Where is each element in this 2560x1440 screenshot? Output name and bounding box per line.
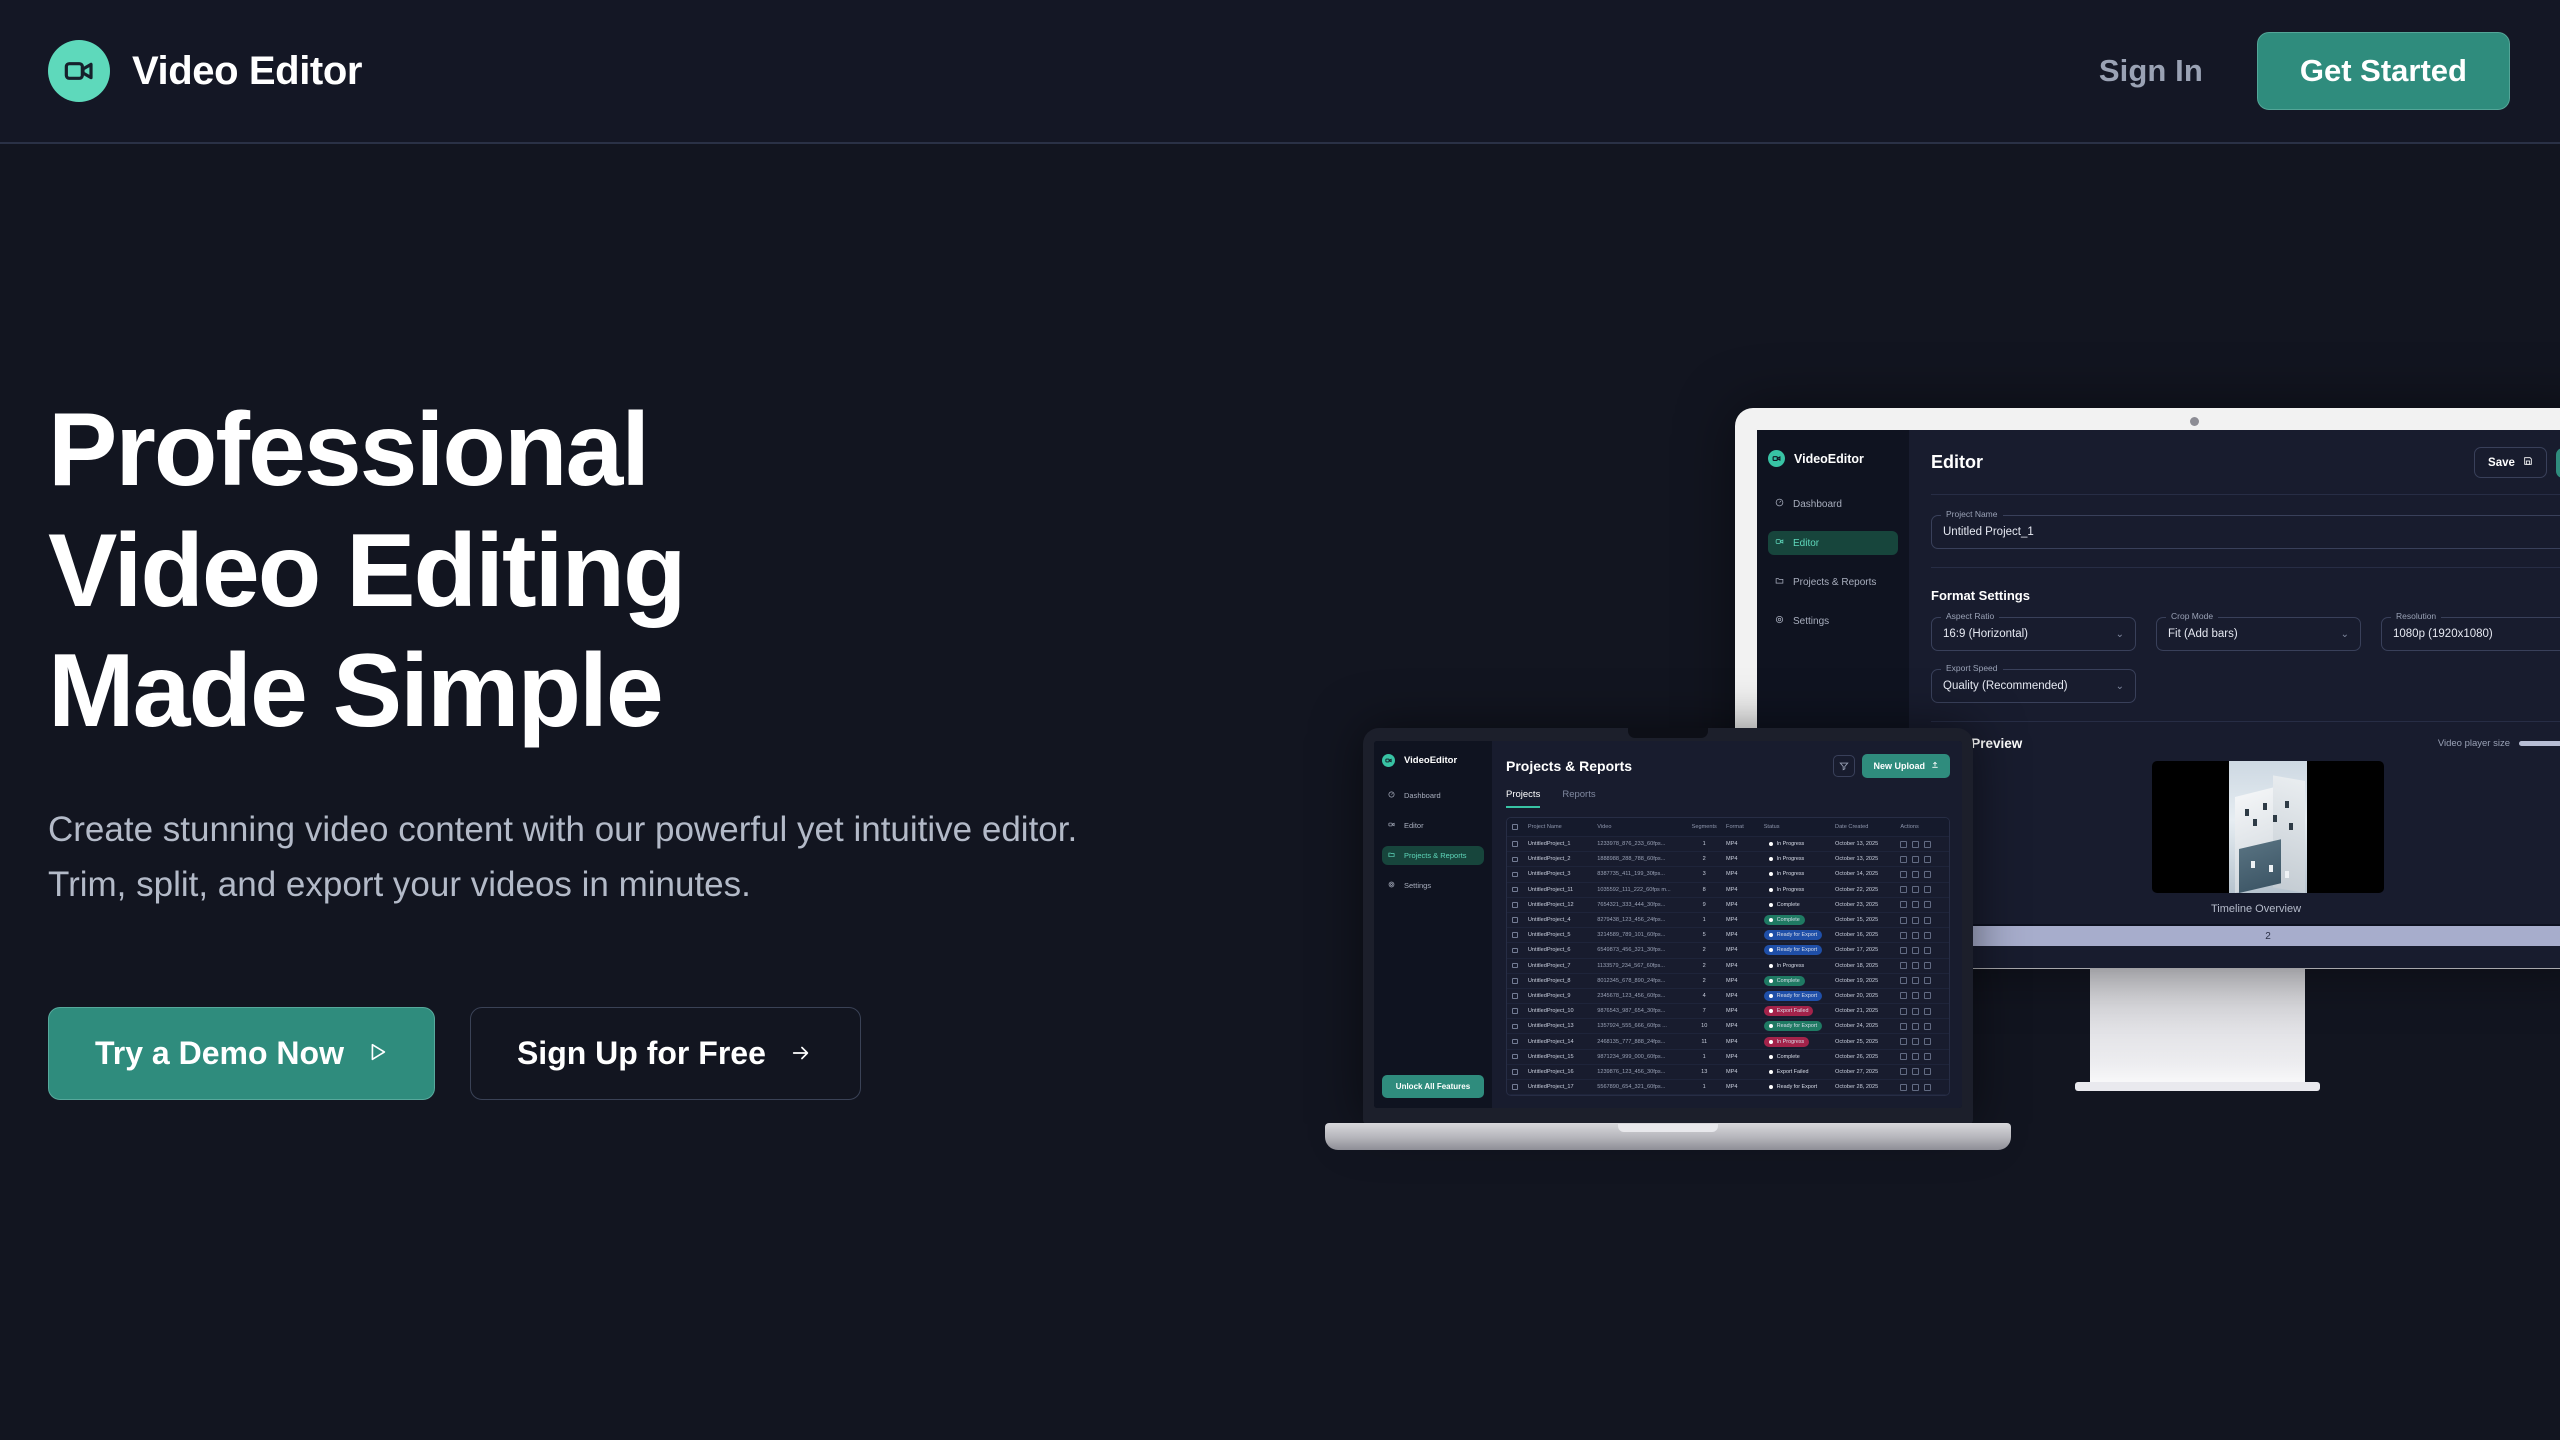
status-badge: In Progress [1764, 869, 1835, 879]
trash-icon[interactable] [1924, 901, 1931, 908]
cell-video: 9871234_999_000_60fps... [1597, 1054, 1682, 1060]
table-row[interactable]: UntitledProject_71133579_234_567_60fps..… [1507, 959, 1949, 974]
window-detail [2285, 801, 2289, 808]
status-badge: In Progress [1764, 1037, 1835, 1047]
status-badge: Ready for Export [1764, 1021, 1835, 1031]
monitor-camera-dot [2190, 417, 2199, 426]
landing-page: Video Editor Sign In Get Started Profess… [0, 0, 2560, 1440]
row-checkbox[interactable] [1512, 932, 1528, 938]
download-icon[interactable] [1912, 962, 1919, 969]
divider [1931, 721, 2560, 722]
laptop-lid: VideoEditor Dashboard Editor [1363, 728, 1973, 1124]
gauge-icon [1388, 791, 1395, 800]
cell-project-name: UntitledProject_6 [1528, 947, 1597, 953]
cell-segments: 2 [1682, 856, 1726, 862]
cell-project-name: UntitledProject_12 [1528, 902, 1597, 908]
row-checkbox[interactable] [1512, 887, 1528, 893]
row-actions [1900, 947, 1944, 954]
row-checkbox[interactable] [1512, 1024, 1528, 1030]
sign-up-label: Sign Up for Free [517, 1035, 766, 1072]
hero-content: Professional Video Editing Made Simple C… [48, 390, 1108, 1100]
cell-video: 8387735_411_199_30fps... [1597, 871, 1682, 877]
table-row[interactable]: UntitledProject_131357924_555_666_60fps … [1507, 1019, 1949, 1034]
cell-video: 8279438_123_456_24fps... [1597, 917, 1682, 923]
trash-icon[interactable] [1924, 886, 1931, 893]
trash-icon[interactable] [1924, 1084, 1931, 1091]
cell-date-created: October 28, 2025 [1835, 1084, 1900, 1090]
cell-segments: 11 [1682, 1039, 1726, 1045]
col-video[interactable]: Video [1597, 824, 1682, 830]
cell-date-created: October 26, 2025 [1835, 1054, 1900, 1060]
video-icon [1775, 537, 1784, 549]
table-row[interactable]: UntitledProject_175567890_654_321_60fps.… [1507, 1080, 1949, 1095]
row-actions [1900, 1084, 1944, 1091]
upload-icon [1931, 761, 1939, 771]
slider-track[interactable] [2519, 741, 2560, 746]
cell-format: MP4 [1726, 932, 1764, 938]
cell-date-created: October 14, 2025 [1835, 871, 1900, 877]
laptop-base-notch [1618, 1124, 1718, 1132]
sidebar-label: Settings [1404, 881, 1431, 890]
gear-icon [1388, 881, 1395, 890]
laptop-notch [1628, 728, 1708, 738]
cell-date-created: October 24, 2025 [1835, 1023, 1900, 1029]
cell-date-created: October 25, 2025 [1835, 1039, 1900, 1045]
video-player-size-slider[interactable]: Video player size [2438, 738, 2560, 749]
projects-page-title: Projects & Reports [1506, 758, 1632, 774]
download-icon[interactable] [1912, 1068, 1919, 1075]
trash-icon[interactable] [1924, 1023, 1931, 1030]
projects-actions: New Upload [1833, 754, 1950, 778]
edit-icon[interactable] [1900, 977, 1907, 984]
project-name-field[interactable]: Project Name Untitled Project_1 [1931, 515, 2560, 549]
cell-video: 2468135_777_888_24fps... [1597, 1039, 1682, 1045]
header-actions: Sign In Get Started [2099, 32, 2510, 110]
cell-video: 6549873_456_321_30fps... [1597, 947, 1682, 953]
cell-project-name: UntitledProject_16 [1528, 1069, 1597, 1075]
sidebar-label: Dashboard [1793, 499, 1842, 510]
download-icon[interactable] [1912, 1008, 1919, 1015]
row-actions [1900, 1038, 1944, 1045]
table-row[interactable]: UntitledProject_53214589_789_101_60fps..… [1507, 928, 1949, 943]
format-fields-row-2: Export Speed Quality (Recommended) ⌄ [1931, 669, 2560, 703]
funnel-icon[interactable] [1833, 755, 1855, 777]
cell-date-created: October 20, 2025 [1835, 993, 1900, 999]
sidebar-label: Projects & Reports [1404, 851, 1467, 860]
cell-segments: 8 [1682, 887, 1726, 893]
sidebar-label: Editor [1793, 538, 1819, 549]
cell-date-created: October 17, 2025 [1835, 947, 1900, 953]
cell-segments: 1 [1682, 1084, 1726, 1090]
sidebar-label: Projects & Reports [1793, 577, 1876, 588]
col-format[interactable]: Format [1726, 824, 1764, 830]
projects-table: Project Name Video Segments Format Statu… [1506, 817, 1950, 1096]
cell-format: MP4 [1726, 902, 1764, 908]
try-demo-label: Try a Demo Now [95, 1035, 344, 1072]
table-row[interactable]: UntitledProject_48279438_123_456_24fps..… [1507, 913, 1949, 928]
cell-format: MP4 [1726, 978, 1764, 984]
row-checkbox[interactable] [1512, 917, 1528, 923]
projects-sidebar: VideoEditor Dashboard Editor [1374, 741, 1492, 1108]
download-icon[interactable] [1912, 1053, 1919, 1060]
edit-icon[interactable] [1900, 947, 1907, 954]
download-icon[interactable] [1912, 932, 1919, 939]
edit-icon[interactable] [1900, 917, 1907, 924]
divider [1931, 567, 2560, 568]
row-checkbox[interactable] [1512, 1008, 1528, 1014]
download-icon[interactable] [1912, 992, 1919, 999]
trash-icon[interactable] [1924, 841, 1931, 848]
edit-icon[interactable] [1900, 901, 1907, 908]
projects-main: Projects & Reports New Upload [1492, 741, 1962, 1108]
status-badge: Export Failed [1764, 1067, 1835, 1077]
brand-name: Video Editor [132, 49, 362, 94]
site-header: Video Editor Sign In Get Started [0, 0, 2560, 144]
edit-icon[interactable] [1900, 992, 1907, 999]
window-detail [2251, 861, 2255, 868]
trash-icon[interactable] [1924, 1038, 1931, 1045]
projects-app-screen: VideoEditor Dashboard Editor [1374, 741, 1962, 1108]
cell-project-name: UntitledProject_13 [1528, 1023, 1597, 1029]
cell-segments: 3 [1682, 871, 1726, 877]
window-detail [2269, 865, 2273, 872]
cell-project-name: UntitledProject_9 [1528, 993, 1597, 999]
timeline-bar[interactable]: 2 [1931, 924, 2560, 946]
cell-format: MP4 [1726, 993, 1764, 999]
trash-icon[interactable] [1924, 992, 1931, 999]
field-label: Resolution [2391, 611, 2441, 621]
project-name-value: Untitled Project_1 [1943, 526, 2034, 538]
aspect-ratio-select[interactable]: Aspect Ratio 16:9 (Horizontal) ⌄ [1931, 617, 2136, 651]
row-checkbox[interactable] [1512, 993, 1528, 999]
download-icon[interactable] [1912, 977, 1919, 984]
download-icon[interactable] [1912, 871, 1919, 878]
download-icon[interactable] [1912, 1084, 1919, 1091]
edit-icon[interactable] [1900, 1038, 1907, 1045]
table-row[interactable]: UntitledProject_142468135_777_888_24fps.… [1507, 1034, 1949, 1049]
slider-label: Video player size [2438, 738, 2510, 749]
col-status[interactable]: Status [1764, 824, 1835, 830]
cell-format: MP4 [1726, 1069, 1764, 1075]
row-actions [1900, 886, 1944, 893]
row-actions [1900, 932, 1944, 939]
cell-project-name: UntitledProject_2 [1528, 856, 1597, 862]
sidebar-item-editor[interactable]: Editor [1768, 531, 1898, 555]
edit-icon[interactable] [1900, 932, 1907, 939]
sidebar-item-projects-reports[interactable]: Projects & Reports [1382, 846, 1484, 865]
row-checkbox[interactable] [1512, 872, 1528, 878]
cell-project-name: UntitledProject_3 [1528, 871, 1597, 877]
cell-format: MP4 [1726, 947, 1764, 953]
table-row[interactable]: UntitledProject_38387735_411_199_30fps..… [1507, 867, 1949, 882]
monitor-foot [2075, 1082, 2320, 1091]
col-segments[interactable]: Segments [1682, 824, 1726, 830]
trash-icon[interactable] [1924, 932, 1931, 939]
projects-tabs: Projects Reports [1506, 789, 1950, 808]
gauge-icon [1775, 498, 1784, 510]
status-badge: Export Failed [1764, 1006, 1835, 1016]
col-actions: Actions [1900, 824, 1944, 830]
cell-video: 2345678_123_456_60fps... [1597, 993, 1682, 999]
cell-video: 1888988_288_788_60fps... [1597, 856, 1682, 862]
row-actions [1900, 871, 1944, 878]
app-logo: VideoEditor [1768, 450, 1898, 467]
cell-segments: 10 [1682, 1023, 1726, 1029]
row-actions [1900, 962, 1944, 969]
video-preview-header: Video Preview Video player size [1931, 736, 2560, 751]
format-settings-title: Format Settings [1931, 588, 2560, 603]
trash-icon[interactable] [1924, 1053, 1931, 1060]
row-actions [1900, 901, 1944, 908]
table-row[interactable]: UntitledProject_161239876_123_456_30fps.… [1507, 1065, 1949, 1080]
edit-icon[interactable] [1900, 1084, 1907, 1091]
trash-icon[interactable] [1924, 856, 1931, 863]
cell-project-name: UntitledProject_1 [1528, 841, 1597, 847]
row-checkbox[interactable] [1512, 857, 1528, 863]
sidebar-item-dashboard[interactable]: Dashboard [1768, 492, 1898, 516]
status-badge: Ready for Export [1764, 1082, 1835, 1092]
cell-format: MP4 [1726, 856, 1764, 862]
cell-video: 9876543_987_654_30fps... [1597, 1008, 1682, 1014]
trash-icon[interactable] [1924, 947, 1931, 954]
export-speed-select[interactable]: Export Speed Quality (Recommended) ⌄ [1931, 669, 2136, 703]
cell-format: MP4 [1726, 871, 1764, 877]
download-icon[interactable] [1912, 947, 1919, 954]
chevron-down-icon: ⌄ [2116, 681, 2124, 692]
cell-project-name: UntitledProject_11 [1528, 887, 1597, 893]
editor-nav-list: Dashboard Editor Projects & Reports Sett… [1768, 492, 1898, 633]
cell-segments: 2 [1682, 963, 1726, 969]
window-detail [2289, 823, 2293, 830]
window-detail [2253, 819, 2257, 826]
cell-segments: 1 [1682, 841, 1726, 847]
table-row[interactable]: UntitledProject_109876543_987_654_30fps.… [1507, 1004, 1949, 1019]
trash-icon[interactable] [1924, 977, 1931, 984]
row-checkbox[interactable] [1512, 948, 1528, 954]
table-row[interactable]: UntitledProject_88012345_678_890_24fps..… [1507, 974, 1949, 989]
trash-icon[interactable] [1924, 1008, 1931, 1015]
unlock-all-features-button[interactable]: Unlock All Features [1382, 1075, 1484, 1098]
download-icon[interactable] [1912, 841, 1919, 848]
download-icon[interactable] [1912, 917, 1919, 924]
status-badge: Complete [1764, 915, 1835, 925]
row-checkbox[interactable] [1512, 978, 1528, 984]
col-date-created[interactable]: Date Created [1835, 824, 1900, 830]
sidebar-item-settings[interactable]: Settings [1768, 609, 1898, 633]
cell-project-name: UntitledProject_4 [1528, 917, 1597, 923]
editor-topbar: Editor Save Exp [1931, 447, 2560, 478]
gear-icon [1775, 615, 1784, 627]
select-all-checkbox[interactable] [1512, 824, 1528, 830]
table-row[interactable]: UntitledProject_111035592_111_222_60fps … [1507, 883, 1949, 898]
row-checkbox[interactable] [1512, 1084, 1528, 1090]
timeline-overview-label: Timeline Overview [1931, 903, 2560, 915]
cell-format: MP4 [1726, 1084, 1764, 1090]
row-actions [1900, 1008, 1944, 1015]
trash-icon[interactable] [1924, 962, 1931, 969]
divider [1931, 494, 2560, 495]
row-actions [1900, 1023, 1944, 1030]
crop-mode-select[interactable]: Crop Mode Fit (Add bars) ⌄ [2156, 617, 2361, 651]
edit-icon[interactable] [1900, 1023, 1907, 1030]
cell-format: MP4 [1726, 1008, 1764, 1014]
laptop-mockup: VideoEditor Dashboard Editor [1363, 728, 1973, 1124]
cell-format: MP4 [1726, 963, 1764, 969]
row-checkbox[interactable] [1512, 902, 1528, 908]
row-checkbox[interactable] [1512, 1054, 1528, 1060]
folder-icon [1388, 851, 1395, 860]
sidebar-label: Settings [1793, 616, 1829, 627]
chevron-down-icon: ⌄ [2341, 629, 2349, 640]
window-detail [2273, 815, 2277, 822]
edit-icon[interactable] [1900, 1053, 1907, 1060]
sign-in-button[interactable]: Sign In [2099, 53, 2203, 89]
sidebar-label: Editor [1404, 821, 1424, 830]
cell-segments: 9 [1682, 902, 1726, 908]
status-badge: Complete [1764, 900, 1835, 910]
sign-up-button[interactable]: Sign Up for Free [470, 1007, 861, 1100]
row-actions [1900, 1068, 1944, 1075]
video-icon [1388, 821, 1395, 830]
download-icon[interactable] [1912, 901, 1919, 908]
download-icon[interactable] [1912, 856, 1919, 863]
trash-icon[interactable] [1924, 871, 1931, 878]
row-actions [1900, 917, 1944, 924]
chevron-down-icon: ⌄ [2116, 629, 2124, 640]
download-icon[interactable] [1912, 1038, 1919, 1045]
status-badge: Complete [1764, 1052, 1835, 1062]
field-value: 16:9 (Horizontal) [1943, 628, 2028, 640]
monitor-stand [2090, 968, 2305, 1088]
export-button[interactable]: Exp [2556, 448, 2560, 478]
row-checkbox[interactable] [1512, 1069, 1528, 1075]
row-actions [1900, 856, 1944, 863]
table-row[interactable]: UntitledProject_21888988_288_788_60fps..… [1507, 852, 1949, 867]
tab-projects[interactable]: Projects [1506, 789, 1540, 808]
cell-date-created: October 18, 2025 [1835, 963, 1900, 969]
table-row[interactable]: UntitledProject_92345678_123_456_60fps..… [1507, 989, 1949, 1004]
edit-icon[interactable] [1900, 886, 1907, 893]
cell-date-created: October 16, 2025 [1835, 932, 1900, 938]
cell-project-name: UntitledProject_15 [1528, 1054, 1597, 1060]
status-badge: In Progress [1764, 885, 1835, 895]
cell-segments: 1 [1682, 917, 1726, 923]
row-actions [1900, 992, 1944, 999]
cell-video: 1035592_111_222_60fps m... [1597, 887, 1682, 893]
cell-project-name: UntitledProject_8 [1528, 978, 1597, 984]
cell-video: 1233978_876_233_60fps... [1597, 841, 1682, 847]
cell-project-name: UntitledProject_17 [1528, 1084, 1597, 1090]
get-started-button[interactable]: Get Started [2257, 32, 2510, 110]
brand[interactable]: Video Editor [48, 40, 362, 102]
cell-segments: 7 [1682, 1008, 1726, 1014]
new-upload-button[interactable]: New Upload [1862, 754, 1950, 778]
floppy-disk-icon [2523, 456, 2533, 469]
row-actions [1900, 841, 1944, 848]
row-actions [1900, 977, 1944, 984]
video-frame [2229, 761, 2307, 893]
table-body: UntitledProject_11233978_876_233_60fps..… [1507, 837, 1949, 1095]
edit-icon[interactable] [1900, 962, 1907, 969]
page-title: Professional Video Editing Made Simple [48, 390, 1108, 752]
tab-reports[interactable]: Reports [1562, 789, 1595, 808]
row-checkbox[interactable] [1512, 841, 1528, 847]
col-project-name[interactable]: Project Name [1528, 824, 1597, 830]
save-label: Save [2488, 457, 2515, 469]
play-triangle-icon [366, 1035, 388, 1072]
row-checkbox[interactable] [1512, 963, 1528, 969]
sidebar-item-dashboard[interactable]: Dashboard [1382, 786, 1484, 805]
cell-format: MP4 [1726, 1039, 1764, 1045]
folder-icon [1775, 576, 1784, 588]
cell-video: 8012345_678_890_24fps... [1597, 978, 1682, 984]
cell-video: 3214589_789_101_60fps... [1597, 932, 1682, 938]
edit-icon[interactable] [1900, 1008, 1907, 1015]
sidebar-label: Dashboard [1404, 791, 1441, 800]
cell-format: MP4 [1726, 1023, 1764, 1029]
field-label: Aspect Ratio [1941, 611, 1999, 621]
sidebar-item-editor[interactable]: Editor [1382, 816, 1484, 835]
projects-topbar: Projects & Reports New Upload [1506, 754, 1950, 778]
window-detail [2263, 803, 2267, 810]
save-button[interactable]: Save [2474, 447, 2547, 478]
table-row[interactable]: UntitledProject_66549873_456_321_30fps..… [1507, 943, 1949, 958]
status-badge: In Progress [1764, 854, 1835, 864]
trash-icon[interactable] [1924, 917, 1931, 924]
video-camera-icon [1382, 754, 1395, 767]
projects-nav-list: Dashboard Editor Projects & Reports [1382, 786, 1484, 895]
cell-date-created: October 13, 2025 [1835, 841, 1900, 847]
table-row[interactable]: UntitledProject_159871234_999_000_60fps.… [1507, 1050, 1949, 1065]
table-row[interactable]: UntitledProject_127654321_333_444_30fps.… [1507, 898, 1949, 913]
hero-cta-group: Try a Demo Now Sign Up for Free [48, 1007, 1108, 1100]
cell-segments: 2 [1682, 978, 1726, 984]
sidebar-item-projects-reports[interactable]: Projects & Reports [1768, 570, 1898, 594]
cell-segments: 1 [1682, 1054, 1726, 1060]
status-badge: Complete [1764, 976, 1835, 986]
sidebar-item-settings[interactable]: Settings [1382, 876, 1484, 895]
trash-icon[interactable] [1924, 1068, 1931, 1075]
field-label: Crop Mode [2166, 611, 2218, 621]
edit-icon[interactable] [1900, 871, 1907, 878]
cell-date-created: October 27, 2025 [1835, 1069, 1900, 1075]
app-logo: VideoEditor [1382, 754, 1484, 767]
table-row[interactable]: UntitledProject_11233978_876_233_60fps..… [1507, 837, 1949, 852]
app-brand: VideoEditor [1794, 452, 1864, 466]
cell-project-name: UntitledProject_14 [1528, 1039, 1597, 1045]
download-icon[interactable] [1912, 886, 1919, 893]
cell-date-created: October 23, 2025 [1835, 902, 1900, 908]
download-icon[interactable] [1912, 1023, 1919, 1030]
arrow-right-icon [788, 1035, 814, 1072]
hero-subtitle: Create stunning video content with our p… [48, 802, 1108, 913]
editor-page-title: Editor [1931, 452, 1983, 473]
cell-project-name: UntitledProject_7 [1528, 963, 1597, 969]
row-checkbox[interactable] [1512, 1039, 1528, 1045]
table-header-row: Project Name Video Segments Format Statu… [1507, 818, 1949, 837]
cell-date-created: October 19, 2025 [1835, 978, 1900, 984]
edit-icon[interactable] [1900, 856, 1907, 863]
resolution-select[interactable]: Resolution 1080p (1920x1080) ⌄ [2381, 617, 2560, 651]
edit-icon[interactable] [1900, 841, 1907, 848]
status-badge: In Progress [1764, 839, 1835, 849]
video-player[interactable] [2152, 761, 2384, 893]
status-badge: Ready for Export [1764, 930, 1835, 940]
cell-video: 1239876_123_456_30fps... [1597, 1069, 1682, 1075]
try-demo-button[interactable]: Try a Demo Now [48, 1007, 435, 1100]
cell-format: MP4 [1726, 917, 1764, 923]
edit-icon[interactable] [1900, 1068, 1907, 1075]
